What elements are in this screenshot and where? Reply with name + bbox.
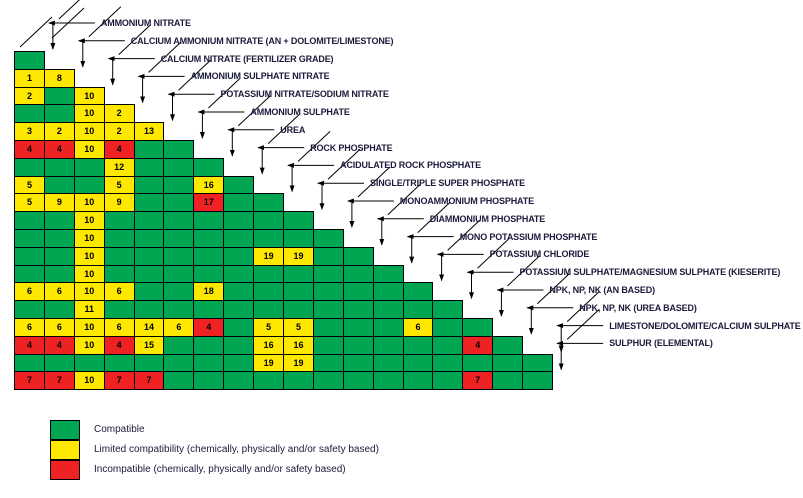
matrix-cell[interactable]: 10 — [74, 371, 105, 390]
matrix-cell[interactable]: 10 — [74, 265, 105, 284]
matrix-cell[interactable] — [14, 300, 45, 319]
matrix-row: 7710777 — [14, 371, 552, 390]
matrix-cell[interactable] — [313, 247, 344, 266]
matrix-cell[interactable] — [74, 176, 105, 195]
matrix-cell[interactable]: 10 — [74, 247, 105, 266]
matrix-cell[interactable] — [44, 354, 75, 373]
matrix-cell[interactable] — [223, 247, 254, 266]
matrix-cell[interactable] — [44, 104, 75, 123]
matrix-cell[interactable] — [134, 140, 165, 159]
matrix-cell[interactable] — [492, 354, 523, 373]
matrix-cell[interactable] — [432, 336, 463, 355]
matrix-cell[interactable] — [403, 282, 434, 301]
matrix-cell[interactable]: 3 — [14, 122, 45, 141]
matrix-cell[interactable] — [432, 354, 463, 373]
legend-label: Limited compatibility (chemically, physi… — [94, 444, 379, 455]
matrix-cell[interactable] — [163, 371, 194, 390]
matrix-cell[interactable] — [462, 354, 493, 373]
matrix-cell[interactable] — [283, 371, 314, 390]
matrix-cell[interactable]: 6 — [104, 282, 135, 301]
matrix-cell[interactable]: 2 — [14, 87, 45, 106]
matrix-cell[interactable] — [343, 265, 374, 284]
matrix-row: 10 — [14, 211, 313, 230]
matrix-cell[interactable] — [223, 211, 254, 230]
matrix-cell[interactable]: 2 — [104, 122, 135, 141]
legend-swatch-r — [50, 460, 80, 480]
matrix-cell[interactable] — [163, 140, 194, 159]
matrix-cell[interactable] — [104, 354, 135, 373]
legend-label: Compatible — [94, 424, 145, 435]
row-label: POTASSIUM CHLORIDE — [490, 249, 590, 259]
matrix-cell[interactable] — [134, 354, 165, 373]
matrix-cell[interactable] — [134, 193, 165, 212]
matrix-cell[interactable]: 10 — [74, 229, 105, 248]
matrix-cell[interactable] — [403, 336, 434, 355]
matrix-cell[interactable] — [432, 300, 463, 319]
matrix-cell[interactable] — [223, 371, 254, 390]
matrix-cell[interactable] — [134, 229, 165, 248]
matrix-cell[interactable] — [44, 300, 75, 319]
matrix-cell[interactable] — [343, 354, 374, 373]
matrix-cell[interactable]: 8 — [44, 69, 75, 88]
matrix-cell[interactable] — [163, 211, 194, 230]
matrix-cell[interactable] — [343, 318, 374, 337]
matrix-cell[interactable] — [373, 300, 404, 319]
matrix-cell[interactable] — [223, 336, 254, 355]
matrix-cell[interactable] — [223, 265, 254, 284]
matrix-row: 102 — [14, 104, 134, 123]
matrix-cell[interactable] — [253, 282, 284, 301]
row-label: DIAMMONIUM PHOSPHATE — [430, 214, 545, 224]
matrix-cell[interactable] — [432, 371, 463, 390]
matrix-cell[interactable] — [373, 282, 404, 301]
matrix-cell[interactable] — [163, 229, 194, 248]
matrix-cell[interactable] — [134, 158, 165, 177]
row-label: AMMONIUM SULPHATE — [250, 107, 349, 117]
matrix-cell[interactable] — [253, 193, 284, 212]
row-label: MONOAMMONIUM PHOSPHATE — [400, 196, 534, 206]
matrix-cell[interactable] — [283, 211, 314, 230]
matrix-cell[interactable] — [134, 282, 165, 301]
matrix-cell[interactable]: 1 — [14, 69, 45, 88]
matrix-cell[interactable] — [373, 318, 404, 337]
matrix-cell[interactable]: 6 — [44, 282, 75, 301]
matrix-cell[interactable] — [223, 300, 254, 319]
matrix-cell[interactable] — [163, 193, 194, 212]
matrix-cell[interactable] — [193, 247, 224, 266]
matrix-cell[interactable] — [134, 247, 165, 266]
matrix-cell[interactable] — [403, 354, 434, 373]
matrix-cell[interactable] — [163, 176, 194, 195]
matrix-cell[interactable] — [44, 229, 75, 248]
matrix-cell[interactable]: 6 — [163, 318, 194, 337]
matrix-cell[interactable] — [163, 354, 194, 373]
matrix-cell[interactable]: 4 — [193, 318, 224, 337]
matrix-cell[interactable] — [163, 336, 194, 355]
matrix-row: 10 — [14, 265, 403, 284]
matrix-cell[interactable]: 7 — [14, 371, 45, 390]
matrix-cell[interactable]: 18 — [193, 282, 224, 301]
matrix-cell[interactable] — [313, 300, 344, 319]
matrix-cell[interactable] — [104, 247, 135, 266]
matrix-cell[interactable]: 9 — [44, 193, 75, 212]
matrix-cell[interactable] — [193, 354, 224, 373]
matrix-cell[interactable] — [223, 176, 254, 195]
matrix-cell[interactable]: 19 — [283, 247, 314, 266]
matrix-cell[interactable]: 15 — [134, 336, 165, 355]
matrix-cell[interactable] — [223, 193, 254, 212]
matrix-cell[interactable]: 9 — [104, 193, 135, 212]
matrix-cell[interactable] — [283, 265, 314, 284]
matrix-cell[interactable]: 13 — [134, 122, 165, 141]
matrix-cell[interactable]: 11 — [74, 300, 105, 319]
matrix-cell[interactable] — [44, 158, 75, 177]
matrix-cell[interactable] — [163, 247, 194, 266]
matrix-cell[interactable] — [253, 265, 284, 284]
matrix-cell[interactable] — [403, 371, 434, 390]
matrix-cell[interactable] — [223, 318, 254, 337]
matrix-cell[interactable] — [283, 229, 314, 248]
matrix-cell[interactable] — [313, 318, 344, 337]
row-label: MONO POTASSIUM PHOSPHATE — [460, 232, 598, 242]
matrix-cell[interactable] — [14, 211, 45, 230]
fertilizer-compatibility-chart: 1821010232102134410412551659109171010101… — [0, 0, 803, 498]
matrix-cell[interactable]: 6 — [44, 318, 75, 337]
legend-label: Incompatible (chemically, physically and… — [94, 464, 346, 475]
matrix-cell[interactable] — [44, 211, 75, 230]
matrix-row: 101919 — [14, 247, 373, 266]
matrix-cell[interactable]: 17 — [193, 193, 224, 212]
matrix-cell[interactable]: 5 — [253, 318, 284, 337]
row-label: CALCIUM AMMONIUM NITRATE (AN + DOLOMITE/… — [131, 36, 394, 46]
matrix-cell[interactable]: 16 — [283, 336, 314, 355]
matrix-cell[interactable] — [44, 87, 75, 106]
matrix-row: 441041516164 — [14, 336, 522, 355]
matrix-cell[interactable] — [432, 318, 463, 337]
matrix-cell[interactable] — [373, 354, 404, 373]
row-label: SULPHUR (ELEMENTAL) — [609, 338, 712, 348]
matrix-cell[interactable]: 10 — [74, 104, 105, 123]
row-label: NPK, NP, NK (AN BASED) — [549, 285, 655, 295]
matrix-cell[interactable] — [193, 265, 224, 284]
row-label: AMMONIUM SULPHATE NITRATE — [191, 71, 330, 81]
matrix-cell[interactable] — [223, 354, 254, 373]
matrix-cell[interactable]: 10 — [74, 87, 105, 106]
matrix-cell[interactable]: 14 — [134, 318, 165, 337]
matrix-cell[interactable]: 19 — [253, 247, 284, 266]
matrix-cell[interactable] — [163, 300, 194, 319]
matrix-cell[interactable] — [104, 265, 135, 284]
matrix-cell[interactable] — [193, 229, 224, 248]
matrix-cell[interactable] — [134, 176, 165, 195]
matrix-cell[interactable] — [44, 265, 75, 284]
matrix-cell[interactable] — [313, 354, 344, 373]
matrix-cell[interactable]: 5 — [14, 193, 45, 212]
matrix-row: 661061464556 — [14, 318, 492, 337]
matrix-cell[interactable]: 12 — [104, 158, 135, 177]
matrix-cell[interactable]: 4 — [14, 140, 45, 159]
matrix-cell[interactable] — [253, 211, 284, 230]
row-label: SINGLE/TRIPLE SUPER PHOSPHATE — [370, 178, 525, 188]
matrix-cell[interactable] — [193, 158, 224, 177]
matrix-cell[interactable] — [104, 211, 135, 230]
matrix-cell[interactable] — [134, 300, 165, 319]
matrix-cell[interactable] — [193, 300, 224, 319]
matrix-cell[interactable] — [343, 282, 374, 301]
matrix-cell[interactable] — [14, 354, 45, 373]
row-label: ACIDULATED ROCK PHOSPHATE — [340, 160, 481, 170]
matrix-cell[interactable] — [44, 247, 75, 266]
matrix-cell[interactable] — [74, 158, 105, 177]
matrix-cell[interactable] — [343, 336, 374, 355]
matrix-cell[interactable] — [193, 336, 224, 355]
row-label: POTASSIUM NITRATE/SODIUM NITRATE — [221, 89, 389, 99]
matrix-cell[interactable]: 7 — [104, 371, 135, 390]
matrix-cell[interactable]: 19 — [283, 354, 314, 373]
matrix-cell[interactable]: 10 — [74, 211, 105, 230]
matrix-cell[interactable] — [373, 265, 404, 284]
matrix-cell[interactable]: 16 — [193, 176, 224, 195]
matrix-cell[interactable] — [373, 371, 404, 390]
matrix-cell[interactable]: 16 — [253, 336, 284, 355]
matrix-cell[interactable] — [313, 229, 344, 248]
matrix-row: 44104 — [14, 140, 193, 159]
row-label: POTASSIUM SULPHATE/MAGNESIUM SULPHATE (K… — [520, 267, 781, 277]
matrix-cell[interactable] — [223, 282, 254, 301]
matrix-cell[interactable]: 4 — [44, 336, 75, 355]
matrix-cell[interactable]: 6 — [14, 282, 45, 301]
matrix-cell[interactable] — [163, 265, 194, 284]
matrix-cell[interactable]: 6 — [104, 318, 135, 337]
row-label: AMMONIUM NITRATE — [101, 18, 191, 28]
matrix-cell[interactable] — [253, 371, 284, 390]
matrix-cell[interactable] — [44, 176, 75, 195]
matrix-cell[interactable] — [134, 265, 165, 284]
matrix-cell[interactable] — [253, 300, 284, 319]
matrix-cell[interactable] — [313, 336, 344, 355]
matrix-cell[interactable]: 5 — [283, 318, 314, 337]
row-label: UREA — [280, 125, 305, 135]
matrix-cell[interactable] — [14, 158, 45, 177]
row-label: NPK, NP, NK (UREA BASED) — [579, 303, 696, 313]
matrix-cell[interactable] — [163, 282, 194, 301]
matrix-cell[interactable]: 6 — [14, 318, 45, 337]
matrix-cell[interactable]: 2 — [104, 104, 135, 123]
matrix-cell[interactable] — [403, 300, 434, 319]
matrix-cell[interactable] — [74, 354, 105, 373]
matrix-cell[interactable]: 10 — [74, 140, 105, 159]
matrix-cell[interactable] — [14, 104, 45, 123]
matrix-row: 10 — [14, 229, 343, 248]
matrix-cell[interactable]: 10 — [74, 122, 105, 141]
matrix-cell[interactable]: 7 — [44, 371, 75, 390]
matrix-cell[interactable] — [193, 211, 224, 230]
row-label: ROCK PHOSPHATE — [310, 143, 392, 153]
matrix-cell[interactable]: 5 — [104, 176, 135, 195]
matrix-row: 1919 — [14, 354, 552, 373]
matrix-cell[interactable]: 4 — [462, 336, 493, 355]
matrix-cell[interactable]: 10 — [74, 193, 105, 212]
matrix-cell[interactable]: 4 — [104, 336, 135, 355]
matrix-cell[interactable] — [492, 371, 523, 390]
matrix-cell[interactable]: 5 — [14, 176, 45, 195]
legend-swatch-y — [50, 440, 80, 460]
row-label: CALCIUM NITRATE (FERTILIZER GRADE) — [161, 54, 334, 64]
matrix-cell[interactable] — [343, 247, 374, 266]
matrix-cell[interactable] — [193, 371, 224, 390]
matrix-row: 5516 — [14, 176, 253, 195]
matrix-cell[interactable] — [313, 265, 344, 284]
matrix-cell[interactable]: 10 — [74, 282, 105, 301]
legend-swatch-g — [50, 420, 80, 440]
matrix-cell[interactable] — [522, 354, 553, 373]
matrix-cell[interactable] — [283, 300, 314, 319]
matrix-cell[interactable]: 19 — [253, 354, 284, 373]
matrix-cell[interactable] — [163, 158, 194, 177]
matrix-cell[interactable]: 4 — [104, 140, 135, 159]
matrix-cell[interactable] — [522, 371, 553, 390]
matrix-cell[interactable] — [283, 282, 314, 301]
matrix-cell[interactable]: 4 — [44, 140, 75, 159]
matrix-row: 18 — [14, 69, 74, 88]
matrix-row: 12 — [14, 158, 223, 177]
matrix-cell[interactable] — [462, 318, 493, 337]
row-label: LIMESTONE/DOLOMITE/CALCIUM SULPHATE — [609, 321, 800, 331]
matrix-cell[interactable] — [313, 282, 344, 301]
matrix-row: 5910917 — [14, 193, 283, 212]
matrix-cell[interactable]: 10 — [74, 336, 105, 355]
matrix-cell[interactable] — [343, 371, 374, 390]
matrix-cell[interactable] — [313, 371, 344, 390]
matrix-row: 3210213 — [14, 122, 163, 141]
matrix-cell[interactable] — [223, 229, 254, 248]
matrix-cell[interactable] — [253, 229, 284, 248]
matrix-cell[interactable] — [134, 211, 165, 230]
matrix-cell[interactable] — [373, 336, 404, 355]
matrix-cell[interactable]: 4 — [14, 336, 45, 355]
matrix-cell[interactable] — [343, 300, 374, 319]
matrix-cell[interactable]: 7 — [462, 371, 493, 390]
matrix-cell[interactable]: 7 — [134, 371, 165, 390]
matrix-row: 6610618 — [14, 282, 432, 301]
matrix-row — [14, 51, 44, 70]
matrix-cell[interactable] — [14, 247, 45, 266]
matrix-row: 210 — [14, 87, 104, 106]
matrix-cell[interactable] — [104, 300, 135, 319]
matrix-cell[interactable]: 6 — [403, 318, 434, 337]
matrix-cell[interactable] — [14, 229, 45, 248]
matrix-cell[interactable] — [492, 336, 523, 355]
matrix-cell[interactable] — [14, 51, 45, 70]
matrix-cell[interactable] — [14, 265, 45, 284]
matrix-cell[interactable]: 10 — [74, 318, 105, 337]
matrix-row: 11 — [14, 300, 462, 319]
matrix-cell[interactable]: 2 — [44, 122, 75, 141]
matrix-cell[interactable] — [104, 229, 135, 248]
